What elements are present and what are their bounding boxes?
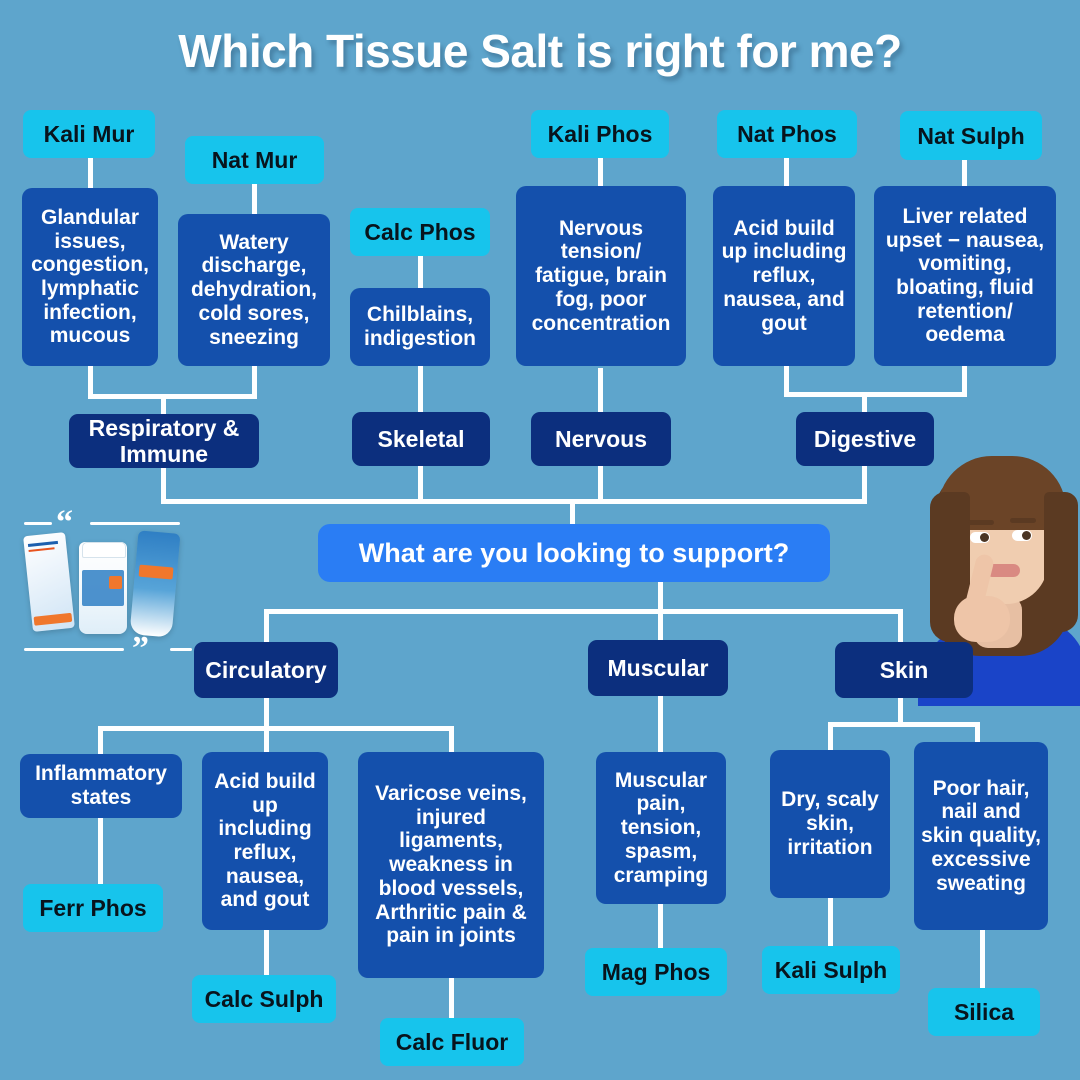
connector-nervous-down <box>598 368 603 414</box>
symptom-box-calc-phos: Chilblains, indigestion <box>350 288 490 366</box>
connector-muscular-up <box>658 609 663 643</box>
central-question-box[interactable]: What are you looking to support? <box>318 524 830 582</box>
product-spray-box <box>23 532 75 632</box>
symptom-box-nat-mur: Watery discharge, dehydration, cold sore… <box>178 214 330 366</box>
connector-circulatory-bar <box>98 726 454 731</box>
connector-circulatory-down <box>264 696 269 730</box>
quote-rule-top-right <box>90 522 180 525</box>
quote-close-mark: ” <box>132 632 149 666</box>
category-box-skin[interactable]: Skin <box>835 642 973 698</box>
quote-rule-top-left <box>24 522 52 525</box>
salt-chip-silica[interactable]: Silica <box>928 988 1040 1036</box>
salt-chip-nat-sulph[interactable]: Nat Sulph <box>900 111 1042 160</box>
connector-circulatory-up <box>264 609 269 643</box>
connector-circ-branch-3 <box>449 726 454 754</box>
connector-lower-hub-bar <box>264 609 903 614</box>
infographic-canvas: Which Tissue Salt is right for me? <box>0 0 1080 1080</box>
product-tablet-jar <box>79 542 127 634</box>
connector-varicose-to-calc-fluor <box>449 978 454 1022</box>
product-photo: “ ” <box>22 500 200 668</box>
symptom-box-acid-build-up: Acid build up including reflux, nausea, … <box>202 752 328 930</box>
symptom-box-kali-mur: Glandular issues, congestion, lymphatic … <box>22 188 158 366</box>
symptom-box-kali-phos: Nervous tension/ fatigue, brain fog, poo… <box>516 186 686 366</box>
category-box-respiratory-immune[interactable]: Respiratory & Immune <box>69 414 259 468</box>
connector-skeletal-to-hub <box>418 464 423 502</box>
connector-acid-to-calc-sulph <box>264 930 269 980</box>
connector-muscular-down <box>658 694 663 752</box>
connector-resp-to-hub <box>161 468 166 502</box>
symptom-box-varicose-veins: Varicose veins, injured ligaments, weakn… <box>358 752 544 978</box>
connector-kali-mur <box>88 158 93 190</box>
connector-digestive-down <box>862 392 867 414</box>
connector-nat-mur <box>252 184 257 216</box>
symptom-box-poor-hair-nail-skin: Poor hair, nail and skin quality, excess… <box>914 742 1048 930</box>
connector-digestive-to-hub <box>862 464 867 502</box>
quote-rule-bottom-right <box>170 648 192 651</box>
connector-upper-hub-bar <box>161 499 867 504</box>
woman-hair-right <box>1044 492 1078 632</box>
category-box-muscular[interactable]: Muscular <box>588 640 728 696</box>
salt-chip-kali-phos[interactable]: Kali Phos <box>531 110 669 158</box>
connector-muscular-to-mag-phos <box>658 904 663 952</box>
symptom-box-nat-sulph: Liver related upset − nausea, vomiting, … <box>874 186 1056 366</box>
connector-nervous-to-hub <box>598 464 603 502</box>
category-box-skeletal[interactable]: Skeletal <box>352 412 490 466</box>
quote-rule-bottom-left <box>24 648 124 651</box>
salt-chip-nat-mur[interactable]: Nat Mur <box>185 136 324 184</box>
salt-chip-ferr-phos[interactable]: Ferr Phos <box>23 884 163 932</box>
category-box-circulatory[interactable]: Circulatory <box>194 642 338 698</box>
connector-kali-phos <box>598 158 603 188</box>
category-box-nervous[interactable]: Nervous <box>531 412 671 466</box>
connector-dry-to-kali-sulph <box>828 898 833 946</box>
salt-chip-calc-sulph[interactable]: Calc Sulph <box>192 975 336 1023</box>
woman-brow-left <box>968 520 994 525</box>
connector-calc-phos <box>418 256 423 288</box>
woman-eye-right <box>1012 530 1032 541</box>
page-title: Which Tissue Salt is right for me? <box>0 24 1080 78</box>
connector-digestive-bar <box>784 392 967 397</box>
category-box-digestive[interactable]: Digestive <box>796 412 934 466</box>
connector-circ-branch-1 <box>98 726 103 754</box>
woman-eye-left <box>970 532 990 543</box>
salt-chip-kali-sulph[interactable]: Kali Sulph <box>762 946 900 994</box>
connector-poorhair-to-silica <box>980 930 985 988</box>
connector-skin-bar <box>828 722 980 727</box>
connector-circ-branch-2 <box>264 726 269 754</box>
salt-chip-calc-fluor[interactable]: Calc Fluor <box>380 1018 524 1066</box>
connector-hub-down <box>570 499 575 525</box>
connector-skin-up <box>898 609 903 643</box>
connector-skeletal-down <box>418 366 423 414</box>
connector-skin-branch-1 <box>828 722 833 750</box>
symptom-box-muscular-pain: Muscular pain, tension, spasm, cramping <box>596 752 726 904</box>
salt-chip-nat-phos[interactable]: Nat Phos <box>717 110 857 158</box>
symptom-box-nat-phos: Acid build up including reflux, nausea, … <box>713 186 855 366</box>
woman-brow-right <box>1010 518 1036 523</box>
symptom-box-inflammatory-states: Inflammatory states <box>20 754 182 818</box>
salt-chip-calc-phos[interactable]: Calc Phos <box>350 208 490 256</box>
connector-resp-bar <box>88 394 257 399</box>
product-cream-tube <box>130 530 181 637</box>
connector-nat-sulph <box>962 160 967 188</box>
connector-inflammatory-to-ferr <box>98 818 103 886</box>
salt-chip-mag-phos[interactable]: Mag Phos <box>585 948 727 996</box>
symptom-box-dry-scaly-skin: Dry, scaly skin, irritation <box>770 750 890 898</box>
salt-chip-kali-mur[interactable]: Kali Mur <box>23 110 155 158</box>
connector-nat-phos <box>784 158 789 188</box>
